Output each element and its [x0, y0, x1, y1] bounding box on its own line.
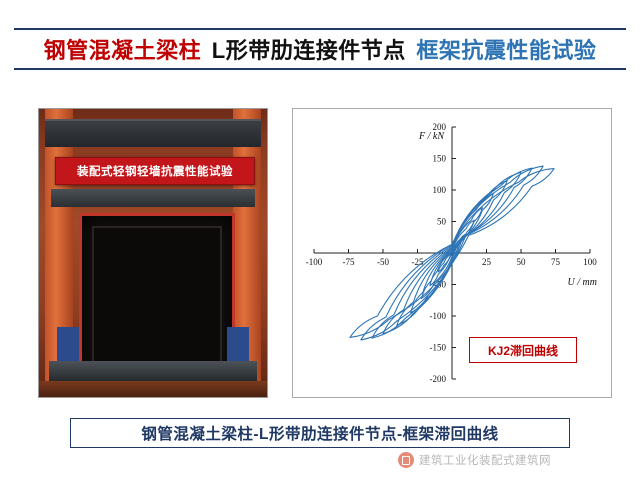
svg-text:100: 100: [433, 185, 447, 195]
svg-text:-100: -100: [306, 257, 323, 267]
svg-text:-150: -150: [430, 343, 447, 353]
title-segment-blue: 框架抗震性能试验: [416, 38, 596, 63]
figure-caption-text: 钢管混凝土梁柱-L形带肋连接件节点-框架滞回曲线: [141, 422, 498, 444]
photo-banner: 装配式轻钢轻墙抗震性能试验: [55, 157, 255, 185]
photo-base-beam: [49, 361, 257, 381]
slide-title-bar: 钢管混凝土梁柱 L形带肋连接件节点 框架抗震性能试验: [14, 28, 626, 70]
watermark-text: 建筑工业化装配式建筑网: [419, 452, 551, 468]
photo-specimen-inner: [92, 226, 222, 366]
svg-text:-200: -200: [430, 374, 447, 384]
figure-caption-bar: 钢管混凝土梁柱-L形带肋连接件节点-框架滞回曲线: [70, 418, 570, 448]
svg-text:-100: -100: [430, 311, 447, 321]
chart-legend-box: KJ2滞回曲线: [469, 337, 577, 363]
watermark: 建筑工业化装配式建筑网: [398, 452, 551, 468]
hysteresis-chart-panel: -100-75-50-25255075100-200-150-100-50501…: [292, 108, 612, 398]
svg-text:50: 50: [517, 257, 527, 267]
watermark-logo-icon: [398, 452, 414, 468]
svg-text:50: 50: [437, 217, 447, 227]
photo-top-frame: [45, 119, 261, 147]
page-title: 钢管混凝土梁柱 L形带肋连接件节点 框架抗震性能试验: [42, 33, 599, 65]
y-axis-label: F / kN: [419, 131, 444, 142]
photo-loading-beam: [51, 189, 255, 207]
title-segment-black: L形带肋连接件节点: [212, 38, 406, 63]
photo-actuator-right: [227, 327, 249, 361]
svg-text:75: 75: [551, 257, 561, 267]
photo-actuator-left: [57, 327, 79, 361]
svg-text:150: 150: [433, 154, 447, 164]
title-segment-red: 钢管混凝土梁柱: [44, 38, 202, 63]
svg-text:-50: -50: [377, 257, 389, 267]
photo-specimen-frame: [79, 213, 235, 379]
svg-text:100: 100: [583, 257, 597, 267]
test-specimen-photo: 装配式轻钢轻墙抗震性能试验: [38, 108, 268, 398]
svg-text:-75: -75: [343, 257, 355, 267]
x-axis-label: U / mm: [568, 277, 597, 288]
svg-text:25: 25: [482, 257, 492, 267]
photo-floor: [39, 381, 267, 397]
